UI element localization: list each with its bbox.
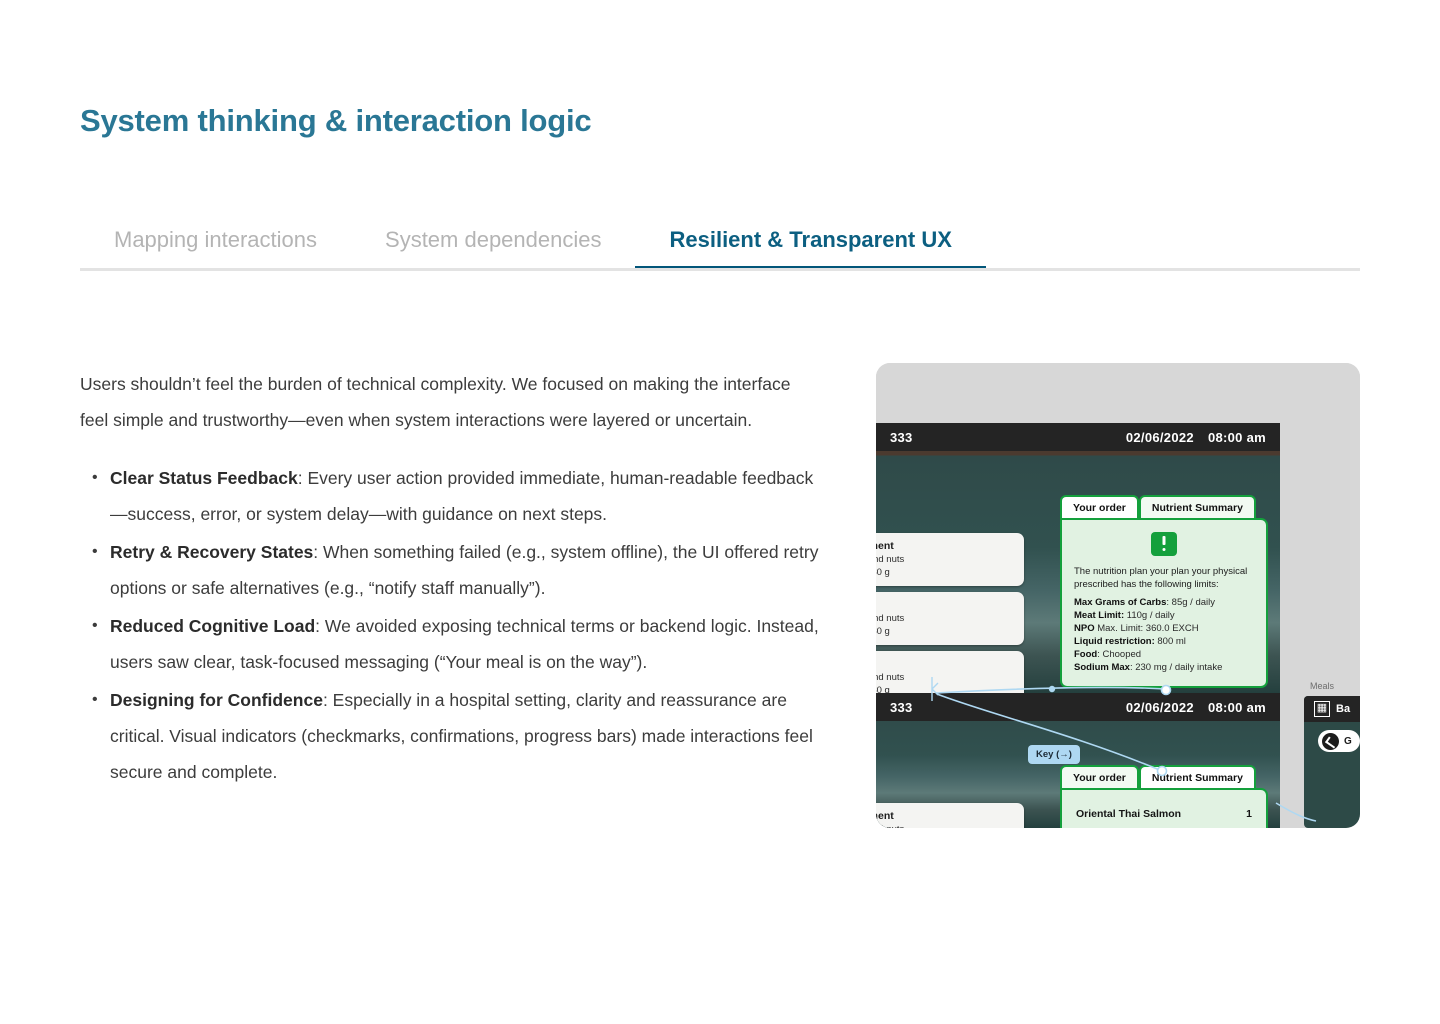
room-number: 333 [890,700,913,715]
list-item: Reduced Cognitive Load: We avoided expos… [80,608,820,680]
nutrition-intro: The nutrition plan your plan your physic… [1074,566,1254,591]
limit-row: Meat Limit: 110g / daily [1074,609,1254,622]
limit-value: : 85g / daily [1166,597,1215,608]
limit-row: Sodium Max: 230 mg / daily intake [1074,661,1254,674]
panel-tab-bar: Your order Nutrient Summary [1060,493,1268,518]
content-column: Users shouldn’t feel the burden of techn… [80,366,820,792]
panel-body: Oriental Thai Salmon 1 Banana 1 [1060,788,1268,828]
tab-resilient-transparent-ux[interactable]: Resilient & Transparent UX [635,210,985,270]
order-item-name: Oriental Thai Salmon [1076,808,1181,820]
tab-your-order[interactable]: Your order [1060,765,1139,788]
limit-value: Max. Limit: 360.0 EXCH [1095,623,1199,634]
list-item: Clear Status Feedback: Every user action… [80,460,820,532]
card-title: ssortment [876,809,1015,823]
limit-term: Meat Limit: [1074,610,1124,621]
food-card-list: ssortment s fish and nuts ries | 180 g a… [876,803,1024,828]
back-arrow-icon [1322,733,1339,750]
limit-term: Max Grams of Carbs [1074,597,1166,608]
limit-row: NPO Max. Limit: 360.0 EXCH [1074,622,1254,635]
artboard-nutrient-summary: 333 02/06/2022 08:00 am ssortment s fish… [876,423,1280,693]
artboard-status-bar: 333 02/06/2022 08:00 am [876,423,1280,451]
meals-section-label: Meals [1310,681,1334,691]
limit-term: NPO [1074,623,1095,634]
tab-your-order[interactable]: Your order [1060,495,1139,518]
limit-value: : 230 mg / daily intake [1130,662,1222,673]
list-item[interactable]: apple s fish and nuts ries | 180 g [876,592,1024,645]
limit-row: Liquid restriction: 800 ml [1074,635,1254,648]
room-number: 333 [890,430,913,445]
key-points-list: Clear Status Feedback: Every user action… [80,460,820,790]
tab-system-dependencies[interactable]: System dependencies [351,210,635,270]
limit-value: 110g / daily [1124,610,1175,621]
artboard-status-bar: 333 02/06/2022 08:00 am [876,693,1280,721]
tab-divider [80,268,1360,271]
limit-term: Sodium Max [1074,662,1130,673]
list-item: Designing for Confidence: Especially in … [80,682,820,790]
status-date: 02/06/2022 [1126,700,1194,715]
panel-body: The nutrition plan your plan your physic… [1060,518,1268,688]
card-meta: ries | 180 g [876,566,1015,579]
canvas-top-gutter [876,363,1360,423]
page-title: System thinking & interaction logic [80,103,591,139]
card-meta: ries | 180 g [876,684,1015,693]
prototype-canvas-image: 333 02/06/2022 08:00 am ssortment s fish… [876,363,1360,828]
list-item-term: Retry & Recovery States [110,542,313,562]
limit-term: Liquid restriction: [1074,636,1155,647]
tab-mapping-interactions[interactable]: Mapping interactions [80,210,351,270]
order-item-qty: 1 [1246,808,1252,820]
alert-info-icon [1151,532,1177,556]
panel-tab-bar: Your order Nutrient Summary [1060,763,1268,788]
limit-row: Max Grams of Carbs: 85g / daily [1074,596,1254,609]
list-item-term: Designing for Confidence [110,690,323,710]
limit-row: Food: Chooped [1074,648,1254,661]
status-time: 08:00 am [1208,700,1266,715]
slide-root: System thinking & interaction logic Mapp… [0,0,1440,1024]
card-subtitle: s fish and nuts [876,671,1015,684]
limit-term: Food [1074,649,1097,660]
nutrient-summary-panel: Your order Nutrient Summary The nutritio… [1060,493,1268,688]
intro-paragraph: Users shouldn’t feel the burden of techn… [80,366,820,438]
connector-key-label: Key (→) [1028,745,1080,764]
list-item[interactable]: a s fish and nuts ries | 180 g [876,651,1024,693]
list-item[interactable]: ssortment s fish and nuts ries | 180 g [876,533,1024,586]
artboard-meals-partial: ▦ Ba G [1304,696,1360,828]
list-item[interactable]: ssortment s fish and nuts ries | 180 g [876,803,1024,828]
card-subtitle: s fish and nuts [876,823,1015,828]
table-row: Oriental Thai Salmon 1 [1074,800,1254,828]
list-item-term: Reduced Cognitive Load [110,616,315,636]
status-date: 02/06/2022 [1126,430,1194,445]
status-time: 08:00 am [1208,430,1266,445]
menu-grid-icon: ▦ [1314,701,1330,717]
card-title: a [876,657,1015,671]
card-meta: ries | 180 g [876,625,1015,638]
tab-bar: Mapping interactions System dependencies… [80,210,1360,272]
tab-nutrient-summary[interactable]: Nutrient Summary [1139,495,1256,518]
food-card-list: ssortment s fish and nuts ries | 180 g a… [876,533,1024,693]
meals-bar-text: Ba [1336,703,1350,715]
list-item: Retry & Recovery States: When something … [80,534,820,606]
meals-top-bar: ▦ Ba [1304,696,1360,722]
card-subtitle: s fish and nuts [876,553,1015,566]
card-title: apple [876,598,1015,612]
limit-value: : Chooped [1097,649,1141,660]
list-item-term: Clear Status Feedback [110,468,298,488]
tab-nutrient-summary[interactable]: Nutrient Summary [1139,765,1256,788]
card-title: ssortment [876,539,1015,553]
card-subtitle: s fish and nuts [876,612,1015,625]
your-order-panel: Your order Nutrient Summary Oriental Tha… [1060,763,1268,828]
limit-value: 800 ml [1155,636,1186,647]
back-button[interactable]: G [1318,730,1360,752]
back-button-label: G [1344,736,1352,747]
